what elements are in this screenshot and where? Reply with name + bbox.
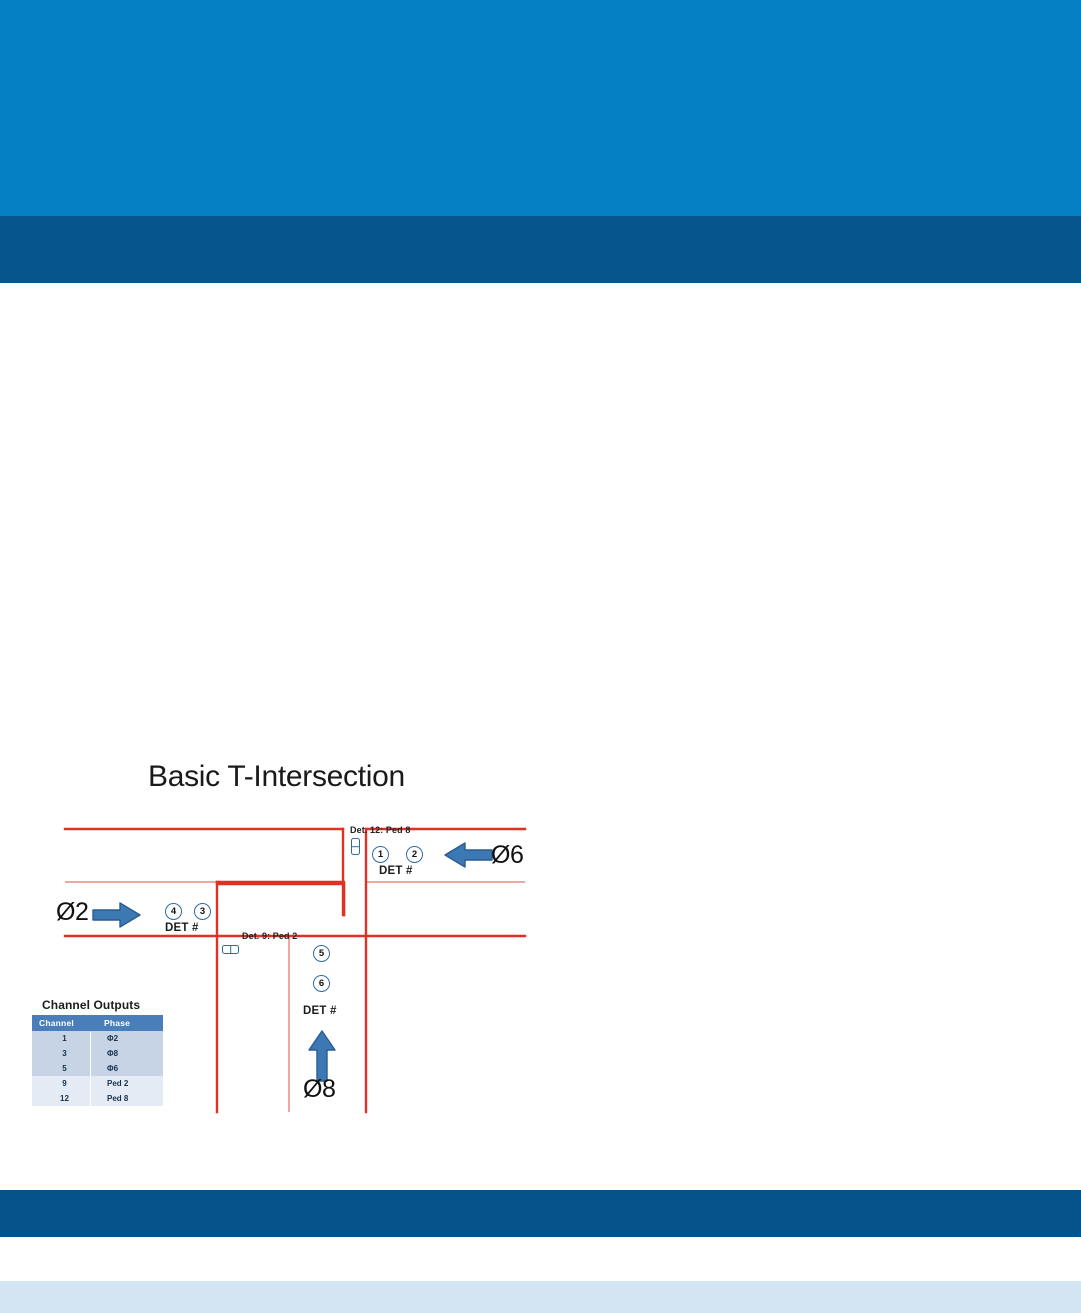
cell-phase: Φ6 [97, 1061, 163, 1076]
footer-band-light [0, 1281, 1081, 1313]
ped-detector-12-label-wrap: Det. 12: Ped 8 [350, 820, 410, 838]
arrow-west-east-icon [92, 902, 142, 928]
detector-circle-4: 4 [165, 903, 182, 920]
header-band-secondary [0, 216, 1081, 283]
column-header-phase: Phase [97, 1015, 163, 1031]
detector-circle-1: 1 [372, 846, 389, 863]
cell-phase: Φ2 [97, 1031, 163, 1046]
header-band-primary [0, 0, 1081, 216]
table-header-row: Channel Phase [32, 1015, 163, 1031]
cell-phase: Ped 2 [97, 1076, 163, 1091]
detector-circle-5: 5 [313, 945, 330, 962]
phase-label-east: Ø6 [491, 841, 523, 870]
table-row: 5 Φ6 [32, 1061, 163, 1076]
ped-detector-9-label-wrap: Det. 9: Ped 2 [242, 926, 297, 944]
table-row: 1 Φ2 [32, 1031, 163, 1046]
cell-channel: 5 [32, 1061, 97, 1076]
ped-pushbutton-horizontal-icon[interactable] [222, 945, 239, 954]
det-hash-label-east: DET # [379, 865, 413, 877]
ped-detector-12-label: Det. 12: Ped 8 [350, 825, 410, 835]
det-hash-label-south: DET # [303, 1005, 337, 1017]
column-header-channel: Channel [32, 1015, 97, 1031]
ped-detector-9-label: Det. 9: Ped 2 [242, 931, 297, 941]
table-row: 9 Ped 2 [32, 1076, 163, 1091]
detector-circle-6: 6 [313, 975, 330, 992]
cell-phase: Ped 8 [97, 1091, 163, 1106]
phase-label-west: Ø2 [56, 898, 88, 927]
footer-band-dark [0, 1190, 1081, 1237]
channel-outputs-title: Channel Outputs [42, 998, 163, 1012]
cell-phase: Φ8 [97, 1046, 163, 1061]
phase-label-south: Ø8 [303, 1075, 335, 1104]
cell-channel: 12 [32, 1091, 97, 1106]
cell-channel: 1 [32, 1031, 97, 1046]
detector-circle-3: 3 [194, 903, 211, 920]
table-column-divider [90, 1032, 91, 1140]
arrow-east-west-icon [443, 842, 493, 868]
cell-channel: 3 [32, 1046, 97, 1061]
channel-outputs-panel: Channel Outputs Channel Phase 1 Φ2 3 [32, 998, 163, 1106]
table-row: 3 Φ8 [32, 1046, 163, 1061]
detector-circle-2: 2 [406, 846, 423, 863]
channel-outputs-table: Channel Phase 1 Φ2 3 Φ8 5 Φ6 [32, 1015, 163, 1106]
table-row: 12 Ped 8 [32, 1091, 163, 1106]
cell-channel: 9 [32, 1076, 97, 1091]
det-hash-label-west: DET # [165, 922, 199, 934]
ped-pushbutton-vertical-icon[interactable] [351, 838, 360, 855]
intersection-diagram: Basic T-Intersection Ø2 [0, 700, 600, 1170]
